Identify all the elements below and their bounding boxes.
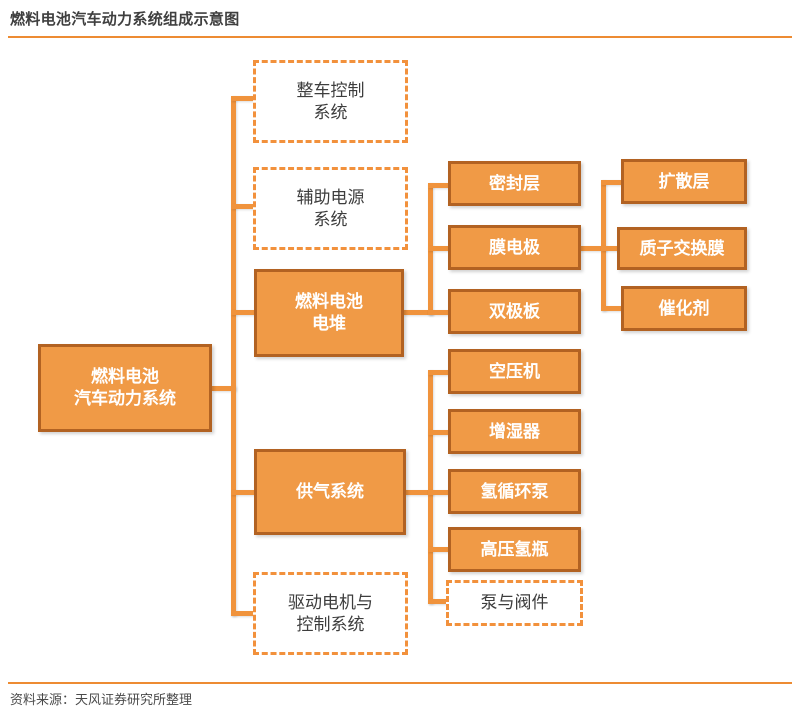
node-catalyst-label: 催化剂 bbox=[655, 298, 714, 320]
node-gas-supply[interactable]: 供气系统 bbox=[254, 449, 406, 535]
node-root[interactable]: 燃料电池 汽车动力系统 bbox=[38, 344, 212, 432]
node-humidifier[interactable]: 增湿器 bbox=[448, 409, 581, 454]
node-gas-supply-label: 供气系统 bbox=[292, 481, 368, 503]
node-catalyst[interactable]: 催化剂 bbox=[621, 286, 747, 331]
node-drive-motor-label: 驱动电机与 控制系统 bbox=[284, 592, 377, 636]
node-vehicle-control[interactable]: 整车控制 系统 bbox=[253, 60, 408, 143]
node-hydrogen-circulation-pump[interactable]: 氢循环泵 bbox=[448, 469, 581, 514]
connector-mea-to-diffusion-layer bbox=[601, 180, 623, 185]
node-root-label: 燃料电池 汽车动力系统 bbox=[70, 366, 180, 410]
node-pumps-and-valves[interactable]: 泵与阀件 bbox=[446, 580, 583, 626]
node-vehicle-control-label: 整车控制 系统 bbox=[293, 80, 369, 124]
node-high-pressure-hydrogen-tank-label: 高压氢瓶 bbox=[477, 539, 553, 561]
node-fuel-cell-stack[interactable]: 燃料电池 电堆 bbox=[254, 269, 404, 357]
connector-gas-supply-trunk bbox=[428, 370, 433, 604]
diagram-canvas: 燃料电池 汽车动力系统 整车控制 系统 辅助电源 系统 燃料电池 电堆 供气系统… bbox=[0, 38, 800, 682]
node-sealing-layer[interactable]: 密封层 bbox=[448, 161, 581, 206]
node-bipolar-plate-label: 双极板 bbox=[485, 301, 544, 323]
node-high-pressure-hydrogen-tank[interactable]: 高压氢瓶 bbox=[448, 527, 581, 572]
page-header: 燃料电池汽车动力系统组成示意图 bbox=[0, 0, 800, 36]
source-note: 资料来源：天风证券研究所整理 bbox=[10, 689, 192, 708]
diagram-page: 燃料电池汽车动力系统组成示意图 bbox=[0, 0, 800, 719]
node-air-compressor[interactable]: 空压机 bbox=[448, 349, 581, 394]
node-pumps-and-valves-label: 泵与阀件 bbox=[477, 592, 553, 614]
node-proton-exchange-membrane-label: 质子交换膜 bbox=[636, 238, 729, 260]
footer-divider bbox=[8, 682, 792, 684]
node-diffusion-layer-label: 扩散层 bbox=[655, 171, 714, 193]
connector-main-trunk bbox=[231, 96, 236, 616]
page-title: 燃料电池汽车动力系统组成示意图 bbox=[0, 8, 240, 29]
node-auxiliary-power[interactable]: 辅助电源 系统 bbox=[253, 167, 408, 250]
node-proton-exchange-membrane[interactable]: 质子交换膜 bbox=[617, 227, 747, 270]
node-drive-motor[interactable]: 驱动电机与 控制系统 bbox=[253, 572, 408, 655]
node-auxiliary-power-label: 辅助电源 系统 bbox=[293, 187, 369, 231]
node-fuel-cell-stack-label: 燃料电池 电堆 bbox=[291, 291, 367, 335]
node-bipolar-plate[interactable]: 双极板 bbox=[448, 289, 581, 334]
node-diffusion-layer[interactable]: 扩散层 bbox=[621, 159, 747, 204]
connector-mea-to-catalyst bbox=[601, 306, 623, 311]
node-membrane-electrode-label: 膜电极 bbox=[485, 237, 544, 259]
node-sealing-layer-label: 密封层 bbox=[485, 173, 544, 195]
node-hydrogen-circulation-pump-label: 氢循环泵 bbox=[477, 481, 553, 503]
node-air-compressor-label: 空压机 bbox=[485, 361, 544, 383]
node-humidifier-label: 增湿器 bbox=[485, 421, 544, 443]
node-membrane-electrode[interactable]: 膜电极 bbox=[448, 225, 581, 270]
